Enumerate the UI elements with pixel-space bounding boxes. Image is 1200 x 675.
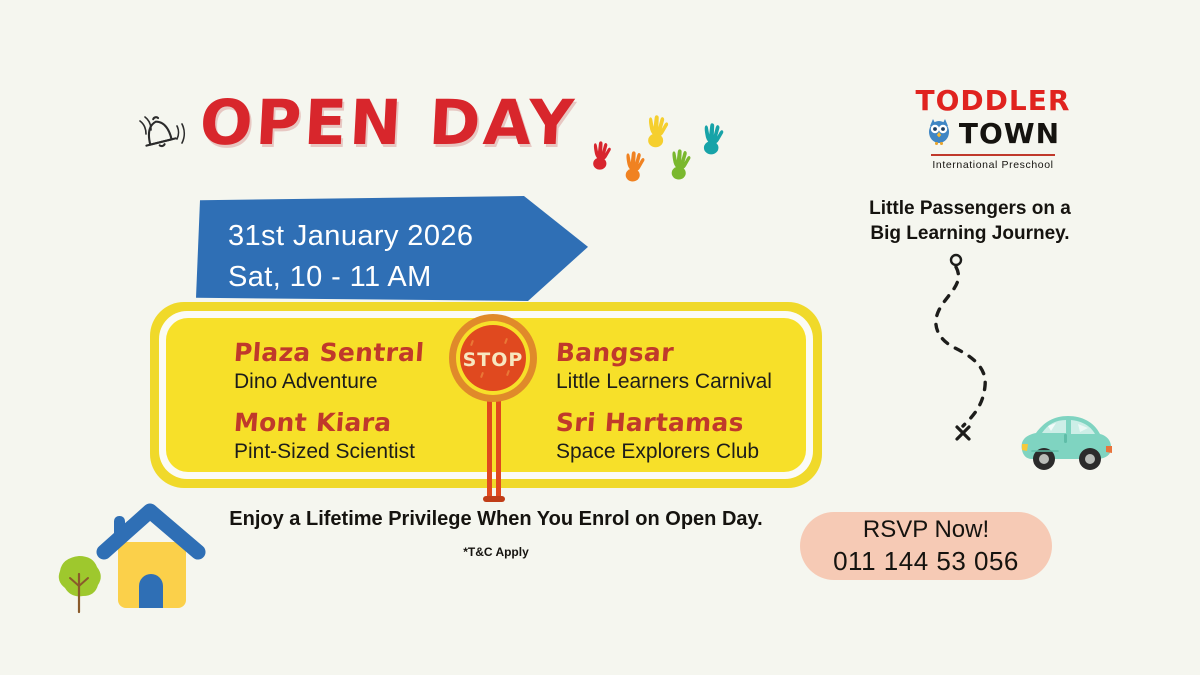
handprints-decoration: [578, 112, 738, 188]
rsvp-phone-number: 011 144 53 056: [833, 545, 1019, 577]
arrow-text-block: 31st January 2026 Sat, 10 - 11 AM: [228, 216, 473, 298]
location-name: Plaza Sentral: [233, 338, 425, 367]
location-name: Bangsar: [555, 338, 773, 367]
list-item: Mont Kiara Pint-Sized Scientist: [234, 408, 424, 464]
tagline-line-2: Big Learning Journey.: [845, 221, 1095, 246]
date-arrow-banner: 31st January 2026 Sat, 10 - 11 AM: [192, 196, 592, 302]
handprint-red: [593, 141, 611, 169]
brand-name-first: TODDLER: [898, 86, 1088, 116]
handprint-yellow: [648, 115, 668, 147]
brand-name-second: TOWN: [959, 119, 1060, 149]
brand-tagline: Little Passengers on a Big Learning Jour…: [845, 196, 1095, 246]
handprint-orange: [626, 151, 645, 181]
location-activity: Dino Adventure: [234, 370, 424, 394]
flyer-canvas: OPEN DAY: [0, 0, 1200, 675]
locations-left-column: Plaza Sentral Dino Adventure Mont Kiara …: [234, 338, 424, 478]
page-title: OPEN DAY: [198, 86, 578, 159]
rsvp-button[interactable]: RSVP Now! 011 144 53 056: [800, 512, 1052, 580]
promo-headline: Enjoy a Lifetime Privilege When You Enro…: [222, 508, 770, 531]
list-item: Sri Hartamas Space Explorers Club: [556, 408, 772, 464]
list-item: Bangsar Little Learners Carnival: [556, 338, 772, 394]
handprint-green: [672, 149, 691, 179]
event-date: 31st January 2026: [228, 216, 473, 257]
brand-subtitle: International Preschool: [898, 159, 1088, 171]
event-time: Sat, 10 - 11 AM: [228, 257, 473, 298]
terms-note: *T&C Apply: [222, 545, 770, 559]
brand-logo: TODDLER TOWN International Presch: [898, 86, 1088, 172]
tree-illustration: [48, 552, 110, 614]
owl-icon: [926, 117, 952, 150]
logo-divider: [931, 154, 1055, 156]
brand-name-row: TOWN: [898, 117, 1088, 150]
locations-right-column: Bangsar Little Learners Carnival Sri Har…: [556, 338, 772, 478]
stop-sign-icon: STOP: [447, 312, 537, 502]
list-item: Plaza Sentral Dino Adventure: [234, 338, 424, 394]
bell-icon: [132, 104, 188, 164]
location-activity: Space Explorers Club: [556, 440, 772, 464]
handprint-teal: [704, 123, 723, 154]
location-activity: Pint-Sized Scientist: [234, 440, 424, 464]
car-illustration: [1018, 404, 1114, 474]
location-name: Sri Hartamas: [555, 408, 773, 437]
location-activity: Little Learners Carnival: [556, 370, 772, 394]
location-name: Mont Kiara: [233, 408, 425, 437]
rsvp-label: RSVP Now!: [863, 515, 989, 545]
tagline-line-1: Little Passengers on a: [845, 196, 1095, 221]
stop-sign-label: STOP: [463, 349, 524, 371]
